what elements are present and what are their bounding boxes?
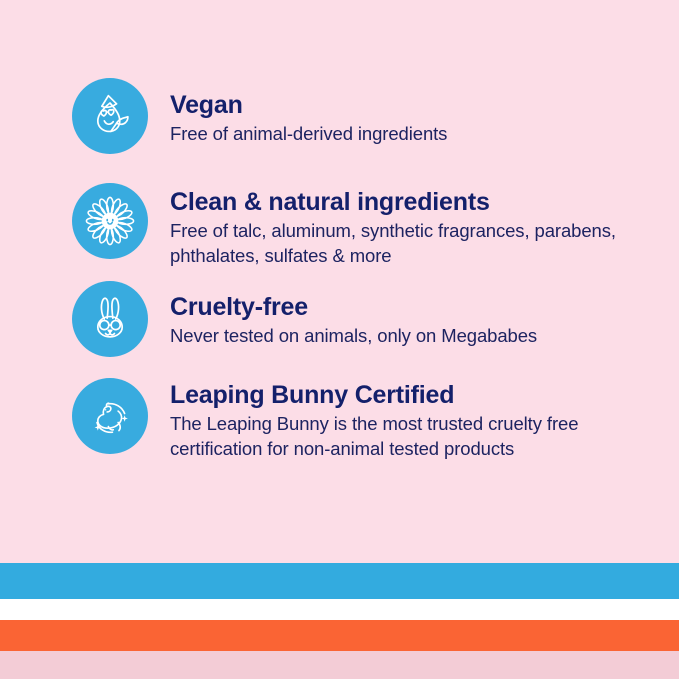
feature-list: Vegan Free of animal-derived ingredients xyxy=(72,78,652,461)
feature-title: Clean & natural ingredients xyxy=(170,189,652,216)
leaping-bunny-icon xyxy=(72,378,148,454)
feature-item-clean-natural: Clean & natural ingredients Free of talc… xyxy=(72,183,652,268)
vegan-droplet-face-icon xyxy=(72,78,148,154)
orange-band xyxy=(0,620,679,651)
feature-text-leaping-bunny: Leaping Bunny Certified The Leaping Bunn… xyxy=(170,378,652,461)
feature-description: Free of animal-derived ingredients xyxy=(170,122,447,147)
feature-title: Vegan xyxy=(170,92,447,119)
feature-text-clean-natural: Clean & natural ingredients Free of talc… xyxy=(170,183,652,268)
feature-description: The Leaping Bunny is the most trusted cr… xyxy=(170,412,652,461)
white-band xyxy=(0,599,679,620)
feature-text-vegan: Vegan Free of animal-derived ingredients xyxy=(170,78,447,147)
daisy-flower-face-icon xyxy=(72,183,148,259)
feature-item-vegan: Vegan Free of animal-derived ingredients xyxy=(72,78,652,154)
bunny-head-glasses-icon xyxy=(72,281,148,357)
product-claims-infographic: Vegan Free of animal-derived ingredients xyxy=(0,0,679,563)
feature-description: Never tested on animals, only on Megabab… xyxy=(170,324,537,349)
feature-title: Cruelty-free xyxy=(170,294,537,321)
feature-description: Free of talc, aluminum, synthetic fragra… xyxy=(170,219,652,268)
blue-band xyxy=(0,563,679,599)
brand-color-bands xyxy=(0,563,679,679)
feature-text-cruelty-free: Cruelty-free Never tested on animals, on… xyxy=(170,281,537,349)
feature-item-cruelty-free: Cruelty-free Never tested on animals, on… xyxy=(72,281,652,357)
feature-item-leaping-bunny: Leaping Bunny Certified The Leaping Bunn… xyxy=(72,378,652,461)
feature-title: Leaping Bunny Certified xyxy=(170,382,652,409)
pink-band xyxy=(0,651,679,679)
